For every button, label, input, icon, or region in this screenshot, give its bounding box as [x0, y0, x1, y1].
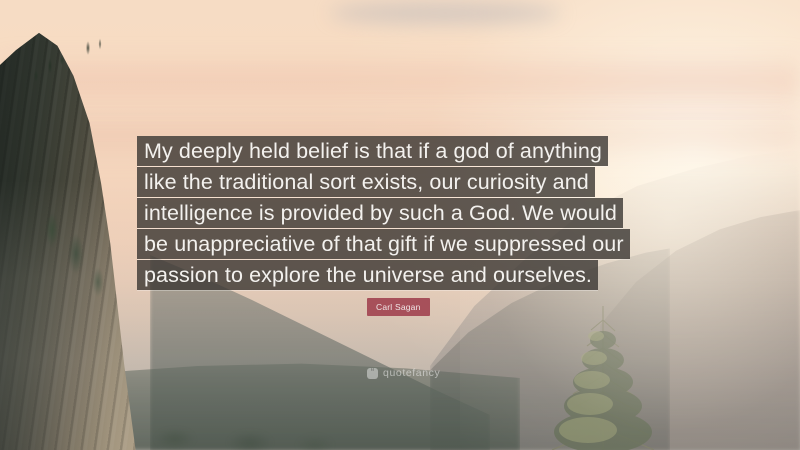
quote-poster: My deeply held belief is that if a god o… [0, 0, 800, 450]
quote-badge-icon: “ [367, 368, 378, 379]
quote-line: be unappreciative of that gift if we sup… [137, 229, 630, 259]
quote-line: intelligence is provided by such a God. … [137, 198, 623, 228]
cliff-slope-trees [28, 190, 138, 310]
quote-line: My deeply held belief is that if a god o… [137, 136, 608, 166]
quotefancy-watermark: “ quotefancy [367, 367, 440, 379]
watermark-label: quotefancy [383, 367, 440, 379]
foreground-conifer-tree [528, 300, 678, 450]
quote-line: passion to explore the universe and ours… [137, 260, 598, 290]
quote-line: like the traditional sort exists, our cu… [137, 167, 595, 197]
cloud-wisp-grey [330, 2, 560, 24]
cliff-summit-trees [22, 36, 142, 96]
quote-text-block: My deeply held belief is that if a god o… [137, 136, 677, 291]
author-badge: Carl Sagan [367, 298, 430, 316]
